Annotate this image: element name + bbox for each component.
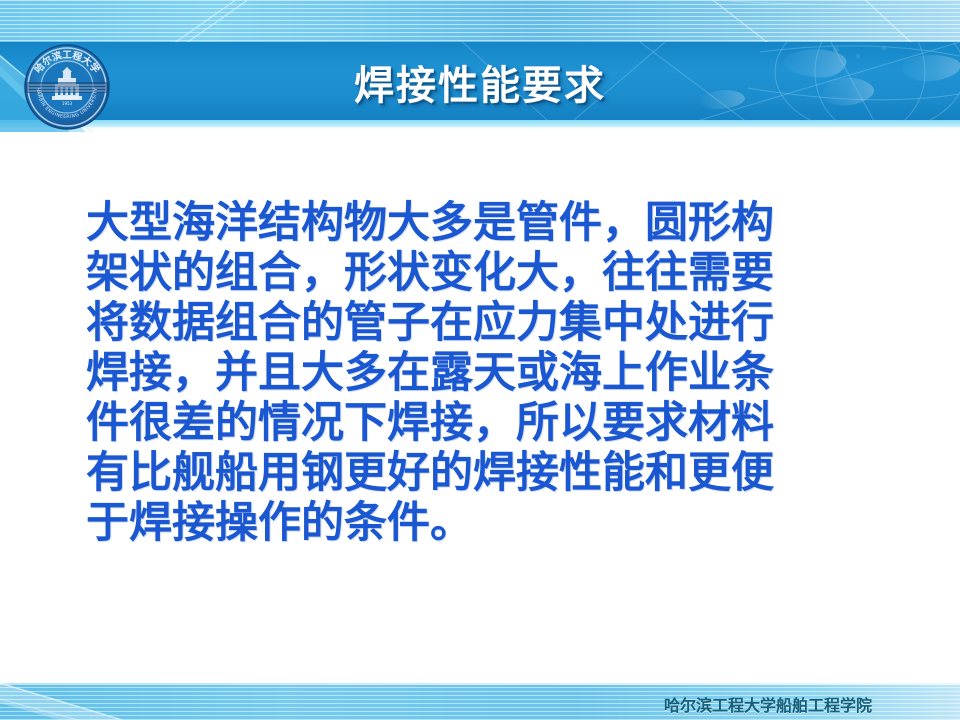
slide-body-text: 大型海洋结构物大多是管件，圆形构 架状的组合，形状变化大，往往需要 将数据组合的… <box>86 198 886 548</box>
header-underline <box>0 120 960 127</box>
body-line: 架状的组合，形状变化大，往往需要 <box>86 248 886 298</box>
body-line: 于焊接操作的条件。 <box>86 498 886 548</box>
footer-organization-label: 哈尔滨工程大学船舶工程学院 <box>664 692 872 716</box>
body-line: 将数据组合的管子在应力集中处进行 <box>86 298 886 348</box>
body-line: 有比舰船用钢更好的焊接性能和更便 <box>86 448 886 498</box>
presentation-slide: 哈尔滨工程大学 HARBIN ENGINEERING UNIVERSITY 19… <box>0 0 960 720</box>
bottom-diagonal-accent <box>0 683 300 720</box>
body-line: 大型海洋结构物大多是管件，圆形构 <box>86 198 886 248</box>
body-line: 焊接，并且大多在露天或海上作业条 <box>86 348 886 398</box>
header-underline-soft <box>0 127 960 130</box>
page-title: 焊接性能要求 <box>0 62 960 110</box>
body-line: 件很差的情况下焊接，所以要求材料 <box>86 398 886 448</box>
top-decorative-strip <box>0 0 960 42</box>
